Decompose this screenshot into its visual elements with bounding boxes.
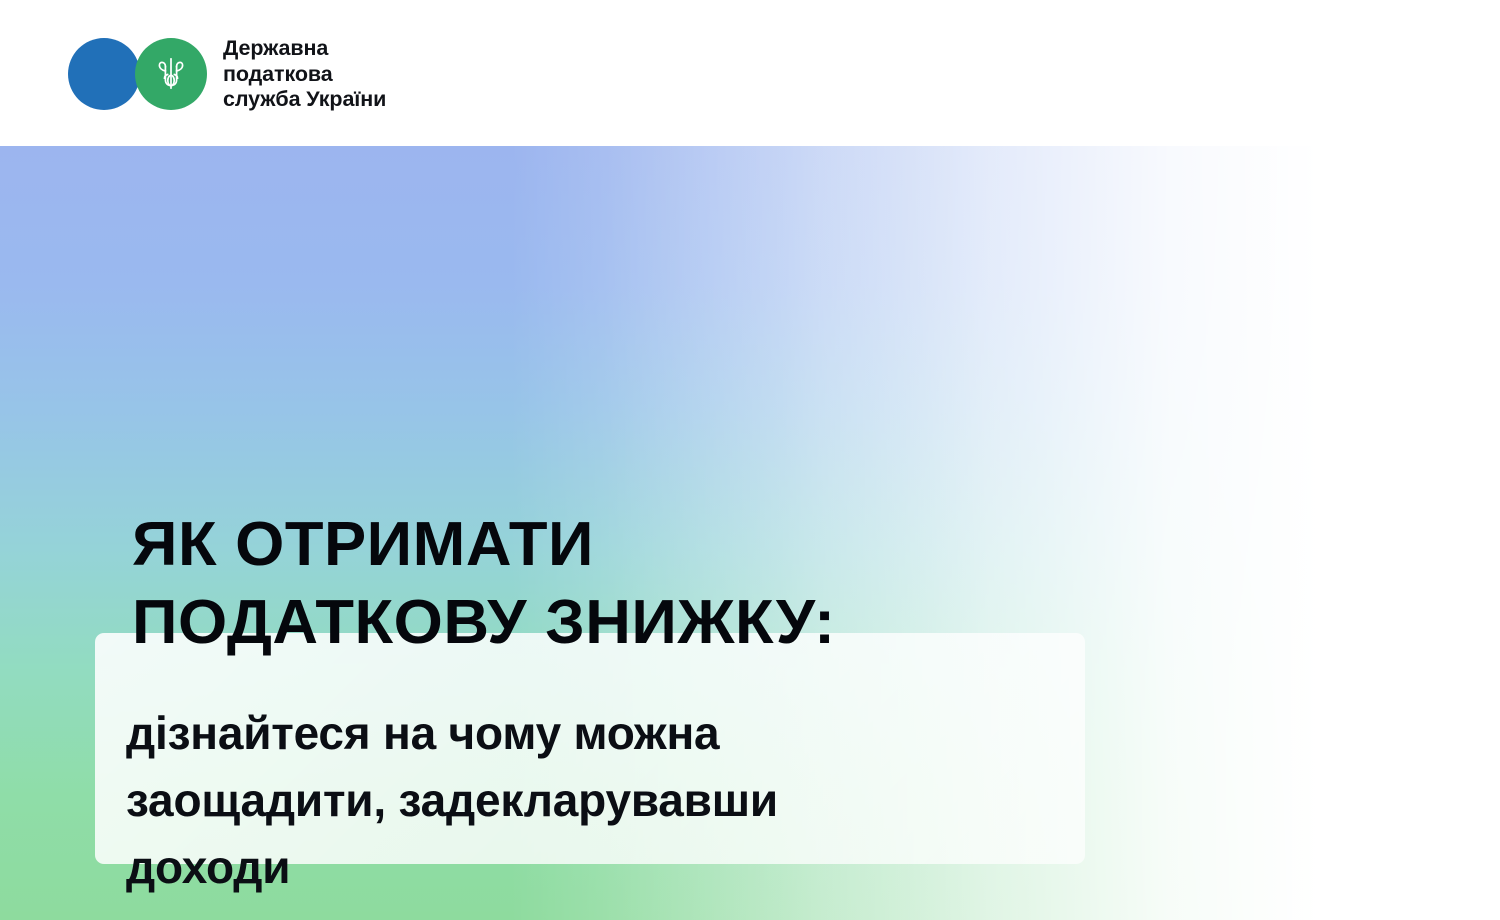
header-bar: Державна податкова служба України <box>0 0 1500 146</box>
agency-logo[interactable]: Державна податкова служба України <box>68 36 386 113</box>
page-title: ЯК ОТРИМАТИ ПОДАТКОВУ ЗНИЖКУ: <box>132 506 1050 662</box>
ukrainian-trident-emblem-icon <box>135 38 207 110</box>
agency-logo-text: Державна податкова служба України <box>223 36 386 113</box>
hero-canvas: ЯК ОТРИМАТИ ПОДАТКОВУ ЗНИЖКУ: дізнайтеся… <box>0 146 1500 920</box>
blue-circle-icon <box>68 38 140 110</box>
logo-marks <box>68 38 207 110</box>
poster: Державна податкова служба України <box>0 0 1500 920</box>
page-subtitle: дізнайтеся на чому можна заощадити, заде… <box>126 700 1076 901</box>
